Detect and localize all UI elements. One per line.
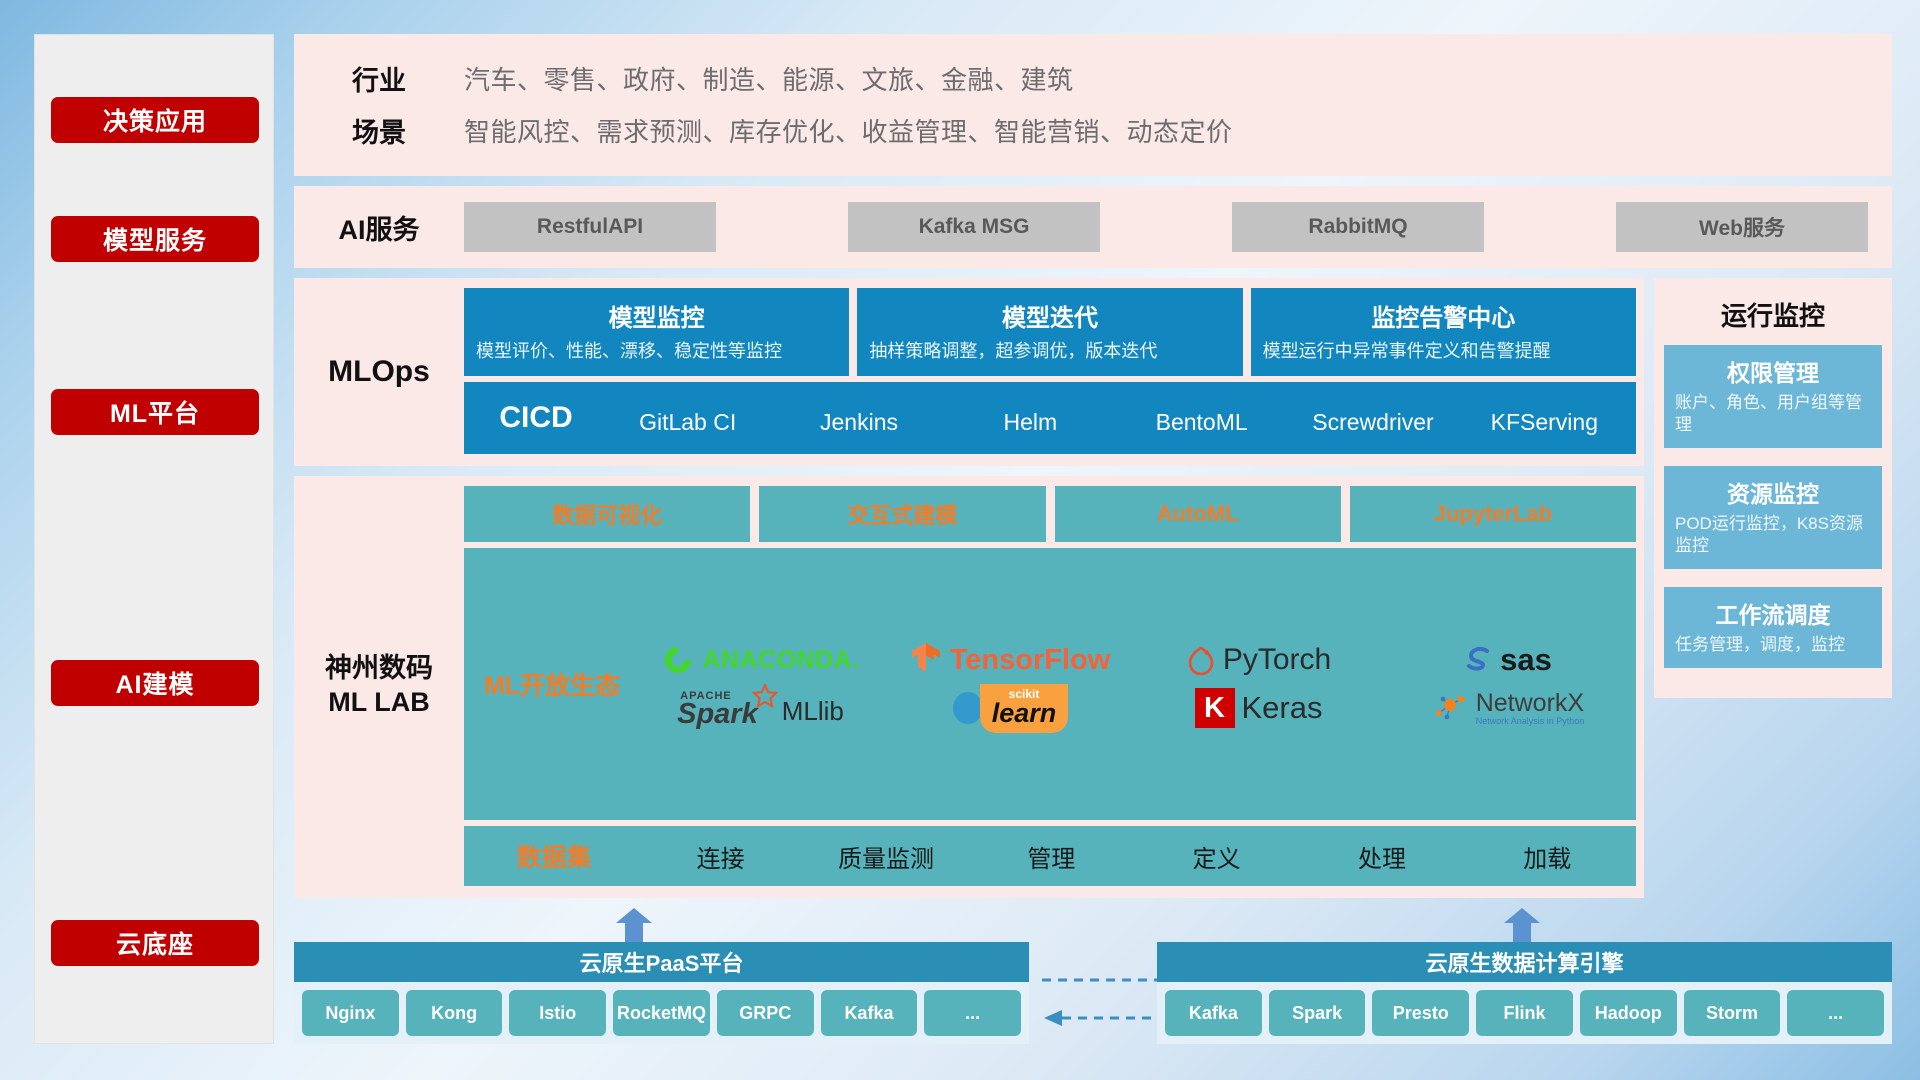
rail-tag-label: 决策应用 <box>103 102 207 138</box>
keras-wordmark: Keras <box>1242 690 1323 726</box>
card-title: 监控告警中心 <box>1263 298 1624 333</box>
sas-wordmark: sas <box>1500 642 1552 678</box>
engine-up-arrow-icon <box>1502 908 1542 942</box>
rail-tag-label: AI建模 <box>115 665 194 701</box>
keras-logo: K Keras <box>1195 688 1323 728</box>
card-title: 模型监控 <box>476 298 837 333</box>
mlops-label: MLOps <box>294 288 464 456</box>
monitor-box-permission[interactable]: 权限管理 账户、角色、用户组等管理 <box>1664 345 1882 448</box>
keras-mark-icon: K <box>1195 688 1235 728</box>
pytorch-logo: PyTorch <box>1186 643 1331 677</box>
paas-platform-block: 云原生PaaS平台 Nginx Kong Istio RocketMQ GRPC… <box>294 942 1029 1044</box>
industry-row: 行业 汽车、零售、政府、制造、能源、文旅、金融、建筑 <box>294 52 1892 104</box>
band-ml-lab: 神州数码 ML LAB 数据可视化 交互式建模 AutoML JupyterLa… <box>294 476 1892 898</box>
ml-open-ecosystem: ML开放生态 ANACONDA. <box>464 548 1636 820</box>
ecosystem-label: ML开放生态 <box>468 666 636 702</box>
keras-k-glyph: K <box>1204 692 1225 725</box>
scenario-row: 场景 智能风控、需求预测、库存优化、收益管理、智能营销、动态定价 <box>294 104 1892 156</box>
engine-chip-more[interactable]: ... <box>1787 990 1884 1036</box>
ml-lab-label-line1: 神州数码 <box>325 653 433 683</box>
scenario-label: 场景 <box>294 111 464 150</box>
rail-tag-model-service[interactable]: 模型服务 <box>51 216 259 262</box>
dataset-item-quality-monitoring[interactable]: 质量监测 <box>803 839 968 874</box>
cicd-item-list: GitLab CI Jenkins Helm BentoML Screwdriv… <box>602 402 1630 434</box>
dataset-item-connect[interactable]: 连接 <box>638 839 803 874</box>
card-desc: 抽样策略调整，超参调优，版本迭代 <box>869 340 1230 364</box>
cicd-item-gitlab-ci[interactable]: GitLab CI <box>602 402 773 434</box>
tensorflow-wordmark: TensorFlow <box>950 644 1111 677</box>
data-compute-engine-block: 云原生数据计算引擎 Kafka Spark Presto Flink Hadoo… <box>1157 942 1892 1044</box>
band-mlops: MLOps 模型监控 模型评价、性能、漂移、稳定性等监控 模型迭代 抽样策略调整… <box>294 278 1892 466</box>
mlops-card-alert-center[interactable]: 监控告警中心 模型运行中异常事件定义和告警提醒 <box>1251 288 1636 376</box>
dataset-item-process[interactable]: 处理 <box>1299 839 1464 874</box>
card-desc: 模型运行中异常事件定义和告警提醒 <box>1263 340 1624 364</box>
data-compute-engine-title: 云原生数据计算引擎 <box>1157 942 1892 982</box>
ai-service-chip-rabbitmq[interactable]: RabbitMQ <box>1232 202 1484 252</box>
sas-mark-icon <box>1463 644 1493 676</box>
mlops-panel: MLOps 模型监控 模型评价、性能、漂移、稳定性等监控 模型迭代 抽样策略调整… <box>294 278 1644 466</box>
tensorflow-logo: TensorFlow <box>909 642 1111 678</box>
cicd-item-screwdriver[interactable]: Screwdriver <box>1287 402 1458 434</box>
ml-lab-label: 神州数码 ML LAB <box>294 486 464 886</box>
mllib-wordmark: MLlib <box>782 696 844 727</box>
cicd-item-kfserving[interactable]: KFServing <box>1459 402 1630 434</box>
engine-chip-presto[interactable]: Presto <box>1372 990 1469 1036</box>
scikit-learn-badge: scikit learn <box>980 684 1069 732</box>
lab-tool-automl[interactable]: AutoML <box>1055 486 1341 542</box>
rail-tag-cloud-base[interactable]: 云底座 <box>51 920 259 966</box>
cicd-item-bentoml[interactable]: BentoML <box>1116 402 1287 434</box>
pytorch-wordmark: PyTorch <box>1223 643 1331 677</box>
lab-right-spacer <box>1654 476 1892 898</box>
paas-chip-more[interactable]: ... <box>924 990 1021 1036</box>
dataset-item-manage[interactable]: 管理 <box>969 839 1134 874</box>
cicd-label: CICD <box>470 401 602 435</box>
scenario-value: 智能风控、需求预测、库存优化、收益管理、智能营销、动态定价 <box>464 112 1233 149</box>
paas-platform-title: 云原生PaaS平台 <box>294 942 1029 982</box>
engine-chip-storm[interactable]: Storm <box>1684 990 1781 1036</box>
lab-tool-jupyterlab[interactable]: JupyterLab <box>1350 486 1636 542</box>
diagram-canvas: 决策应用 模型服务 ML平台 AI建模 云底座 行业 汽车、零售、政府、制造、能… <box>0 0 1920 1080</box>
spark-wordmark: Spark <box>677 702 758 727</box>
industry-value: 汽车、零售、政府、制造、能源、文旅、金融、建筑 <box>464 60 1074 97</box>
run-monitor-title: 运行监控 <box>1721 296 1825 333</box>
paas-chip-nginx[interactable]: Nginx <box>302 990 399 1036</box>
engine-chip-flink[interactable]: Flink <box>1476 990 1573 1036</box>
dataset-strip: 数据集 连接 质量监测 管理 定义 处理 加载 <box>464 826 1636 886</box>
engine-chip-kafka[interactable]: Kafka <box>1165 990 1262 1036</box>
rail-tag-label: 云底座 <box>116 925 194 961</box>
lab-tool-interactive-modeling[interactable]: 交互式建模 <box>759 486 1045 542</box>
dataset-label: 数据集 <box>470 838 638 874</box>
paas-chip-istio[interactable]: Istio <box>509 990 606 1036</box>
paas-chip-grpc[interactable]: GRPC <box>717 990 814 1036</box>
engine-chip-hadoop[interactable]: Hadoop <box>1580 990 1677 1036</box>
ml-lab-label-line2: ML LAB <box>328 687 430 717</box>
mlops-body: 模型监控 模型评价、性能、漂移、稳定性等监控 模型迭代 抽样策略调整，超参调优，… <box>464 288 1636 456</box>
ai-service-label: AI服务 <box>294 208 464 247</box>
networkx-graph-icon <box>1431 691 1469 725</box>
card-title: 模型迭代 <box>869 298 1230 333</box>
pytorch-mark-icon <box>1186 644 1216 676</box>
cicd-item-jenkins[interactable]: Jenkins <box>773 402 944 434</box>
ecosystem-logo-grid: ANACONDA. TensorFlow <box>636 636 1632 733</box>
ml-lab-body: 数据可视化 交互式建模 AutoML JupyterLab ML开放生态 <box>464 486 1636 886</box>
band-ai-service: AI服务 RestfulAPI Kafka MSG RabbitMQ Web服务 <box>294 186 1892 268</box>
cicd-item-helm[interactable]: Helm <box>945 402 1116 434</box>
dataset-item-define[interactable]: 定义 <box>1134 839 1299 874</box>
card-desc: 模型评价、性能、漂移、稳定性等监控 <box>476 340 837 364</box>
engine-chip-spark[interactable]: Spark <box>1269 990 1366 1036</box>
ai-service-chip-list: RestfulAPI Kafka MSG RabbitMQ Web服务 <box>464 202 1868 252</box>
scikit-learn-logo: scikit learn <box>951 684 1069 732</box>
dataset-item-load[interactable]: 加载 <box>1465 839 1630 874</box>
rail-tag-ml-platform[interactable]: ML平台 <box>51 389 259 435</box>
rail-tag-label: 模型服务 <box>103 221 207 257</box>
cicd-strip: CICD GitLab CI Jenkins Helm BentoML Scre… <box>464 382 1636 454</box>
lab-tool-data-visualization[interactable]: 数据可视化 <box>464 486 750 542</box>
diagram-content: 行业 汽车、零售、政府、制造、能源、文旅、金融、建筑 场景 智能风控、需求预测、… <box>294 34 1892 1044</box>
lab-tool-list: 数据可视化 交互式建模 AutoML JupyterLab <box>464 486 1636 542</box>
industry-label: 行业 <box>294 59 464 98</box>
band-cloud-base: 云原生PaaS平台 Nginx Kong Istio RocketMQ GRPC… <box>294 916 1892 1044</box>
anaconda-wordmark: ANACONDA. <box>702 646 859 675</box>
paas-up-arrow-icon <box>614 908 654 942</box>
networkx-logo: NetworkX Network Analysis in Python <box>1431 691 1585 726</box>
networkx-tagline: Network Analysis in Python <box>1476 716 1585 726</box>
ai-service-chip-kafka-msg[interactable]: Kafka MSG <box>848 202 1100 252</box>
ml-lab-panel: 神州数码 ML LAB 数据可视化 交互式建模 AutoML JupyterLa… <box>294 476 1644 898</box>
box-desc: 账户、角色、用户组等管理 <box>1675 392 1871 436</box>
box-title: 权限管理 <box>1675 354 1871 388</box>
paas-chip-kong[interactable]: Kong <box>406 990 503 1036</box>
paas-chip-kafka[interactable]: Kafka <box>821 990 918 1036</box>
mlops-card-list: 模型监控 模型评价、性能、漂移、稳定性等监控 模型迭代 抽样策略调整，超参调优，… <box>464 288 1636 376</box>
rail-tag-label: ML平台 <box>110 394 200 430</box>
engine-chip-list: Kafka Spark Presto Flink Hadoop Storm ..… <box>1157 982 1892 1044</box>
networkx-wordmark: NetworkX <box>1476 691 1584 716</box>
rail-tag-ai-modeling[interactable]: AI建模 <box>51 660 259 706</box>
paas-chip-list: Nginx Kong Istio RocketMQ GRPC Kafka ... <box>294 982 1029 1044</box>
mlops-card-model-monitoring[interactable]: 模型监控 模型评价、性能、漂移、稳定性等监控 <box>464 288 849 376</box>
spark-mllib-logo: APACHE Spark MLlib <box>677 690 844 727</box>
sas-logo: sas <box>1463 642 1552 678</box>
anaconda-logo: ANACONDA. <box>661 643 859 677</box>
dataset-item-list: 连接 质量监测 管理 定义 处理 加载 <box>638 839 1630 874</box>
spark-star-icon <box>752 684 778 710</box>
band-industry-scenario: 行业 汽车、零售、政府、制造、能源、文旅、金融、建筑 场景 智能风控、需求预测、… <box>294 34 1892 176</box>
rail-tag-decision-app[interactable]: 决策应用 <box>51 97 259 143</box>
anaconda-mark-icon <box>661 643 695 677</box>
paas-chip-rocketmq[interactable]: RocketMQ <box>613 990 710 1036</box>
ai-service-chip-web-service[interactable]: Web服务 <box>1616 202 1868 252</box>
mlops-card-model-iteration[interactable]: 模型迭代 抽样策略调整，超参调优，版本迭代 <box>857 288 1242 376</box>
ai-service-chip-restfulapi[interactable]: RestfulAPI <box>464 202 716 252</box>
learn-wordmark: learn <box>992 701 1057 725</box>
layer-rail: 决策应用 模型服务 ML平台 AI建模 云底座 <box>34 34 274 1044</box>
tensorflow-mark-icon <box>909 642 943 678</box>
